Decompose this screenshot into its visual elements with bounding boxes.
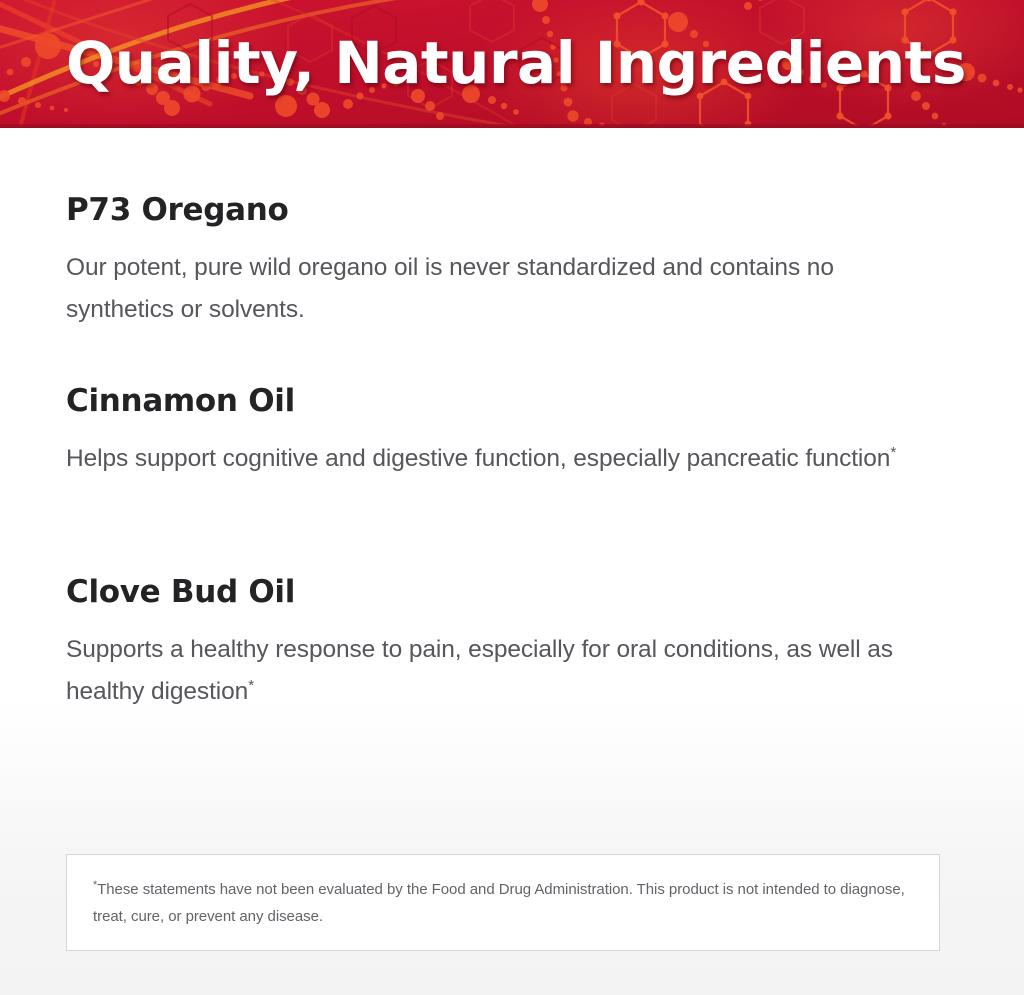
ingredient-section-clove-bud-oil: Clove Bud Oil Supports a healthy respons… xyxy=(66,574,926,713)
ingredient-description: Helps support cognitive and digestive fu… xyxy=(66,438,896,480)
page-banner: Quality, Natural Ingredients xyxy=(0,0,1024,128)
ingredient-section-p73-oregano: P73 Oregano Our potent, pure wild oregan… xyxy=(66,192,926,331)
ingredient-section-cinnamon-oil: Cinnamon Oil Helps support cognitive and… xyxy=(66,383,896,480)
disclaimer-body: These statements have not been evaluated… xyxy=(93,881,905,925)
fda-disclaimer-text: *These statements have not been evaluate… xyxy=(93,877,913,930)
footnote-marker: * xyxy=(248,677,254,694)
ingredient-description-text: Helps support cognitive and digestive fu… xyxy=(66,445,890,472)
ingredient-title: P73 Oregano xyxy=(66,192,926,229)
page-title: Quality, Natural Ingredients xyxy=(66,29,966,97)
ingredient-description: Our potent, pure wild oregano oil is nev… xyxy=(66,247,926,331)
ingredient-title: Cinnamon Oil xyxy=(66,383,896,420)
ingredients-page: Quality, Natural Ingredients P73 Oregano… xyxy=(0,0,1024,995)
ingredient-description: Supports a healthy response to pain, esp… xyxy=(66,629,926,713)
ingredient-description-text: Our potent, pure wild oregano oil is nev… xyxy=(66,254,834,323)
ingredient-description-text: Supports a healthy response to pain, esp… xyxy=(66,636,893,705)
ingredient-title: Clove Bud Oil xyxy=(66,574,926,611)
fda-disclaimer-box: *These statements have not been evaluate… xyxy=(66,854,940,951)
footnote-marker: * xyxy=(890,444,896,461)
